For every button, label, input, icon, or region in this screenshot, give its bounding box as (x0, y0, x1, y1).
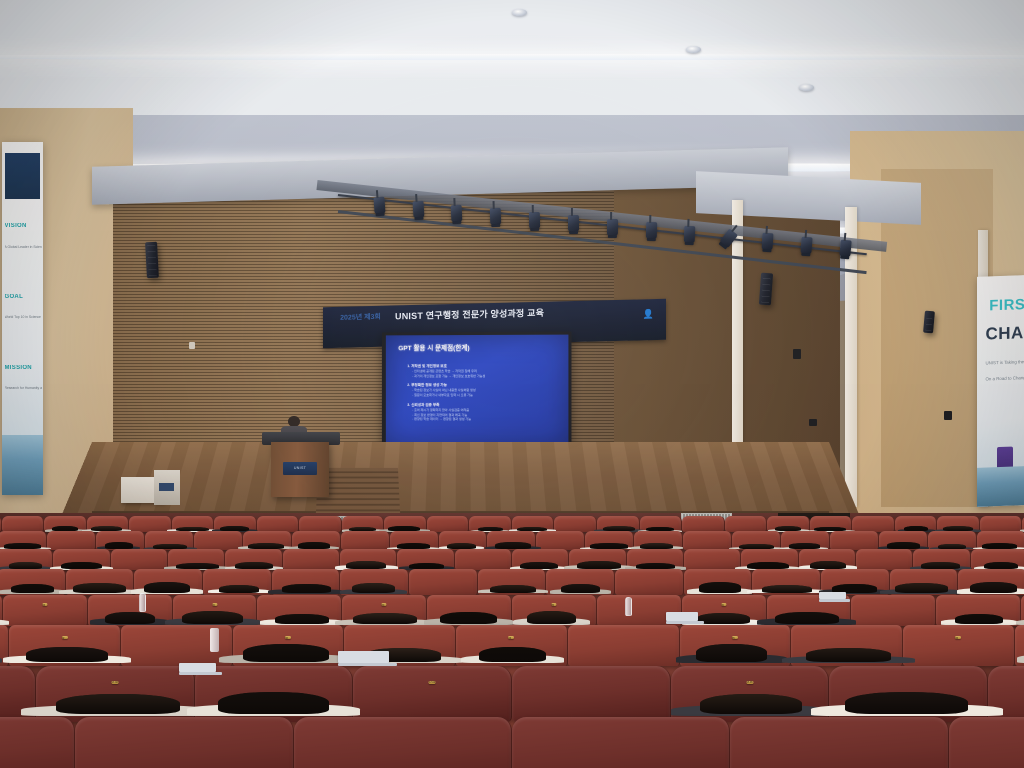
auditorium-seat[interactable] (0, 531, 47, 550)
audience-member-hair (700, 694, 803, 715)
auditorium-seat[interactable] (569, 549, 626, 571)
audience-member-hair (275, 614, 329, 624)
seat-number-plaque: 17-03 (111, 681, 118, 684)
auditorium-seat[interactable] (427, 516, 470, 533)
audience-member (346, 561, 386, 569)
slide-bullet-line: - 질문이 모호하거나 내부자료 입력 시 오류 가능 (412, 393, 560, 398)
auditorium-photo: VISION A Global Leader in Science and Te… (0, 0, 1024, 768)
audience-member (810, 561, 847, 569)
auditorium-seat[interactable] (0, 717, 75, 768)
auditorium-seat[interactable] (145, 531, 194, 550)
auditorium-seat[interactable] (478, 569, 547, 594)
audience-member (282, 584, 331, 593)
podium-plate: UNIST (283, 462, 318, 474)
audience-member (955, 614, 1004, 624)
wall-camera (189, 342, 195, 349)
audience-member-hair (696, 644, 767, 662)
stage-spotlight-icon (839, 240, 851, 258)
seat-number-plaque: 16-05 (732, 636, 738, 639)
auditorium-seat[interactable] (111, 549, 168, 571)
seat-row (0, 516, 1024, 533)
auditorium-seat[interactable] (455, 549, 512, 571)
audience-member-hair (353, 613, 418, 624)
audience-member (61, 562, 102, 570)
auditorium-seat[interactable] (741, 549, 798, 571)
stage-spotlight-icon (373, 197, 385, 215)
auditorium-seat[interactable] (134, 569, 203, 594)
slide-surface: GPT 활용 시 문제점(한계) 1. 저작권 및 개인정보 보호- 인터넷에 … (386, 334, 568, 446)
auditorium-seat[interactable] (299, 516, 342, 533)
audience-seating-area: 15-0215-0315-0415-0515-0616-0216-0316-04… (0, 513, 1024, 768)
water-bottle (625, 597, 632, 616)
auditorium-seat[interactable] (684, 549, 741, 571)
line-array-speaker-icon-left (145, 242, 159, 279)
auditorium-seat[interactable] (439, 531, 488, 550)
audience-member-hair (845, 692, 968, 715)
auditorium-seat[interactable] (1015, 625, 1024, 666)
seat-row (0, 569, 1024, 594)
seat-number-plaque: 17-04 (429, 681, 436, 684)
audience-member (440, 612, 497, 624)
auditorium-seat[interactable] (75, 717, 293, 768)
audience-member-hair (105, 612, 155, 624)
audience-member-hair (282, 584, 331, 593)
stage-spotlight-icon (529, 212, 540, 229)
audience-member (218, 692, 328, 715)
seat-number-plaque: 16-02 (62, 636, 68, 639)
auditorium-seat[interactable] (427, 595, 512, 627)
audience-member-hair (810, 561, 847, 569)
auditorium-seat[interactable] (397, 549, 454, 571)
auditorium-seat[interactable] (272, 569, 341, 594)
right-banner-sub-2: On a Road to Change the Future (985, 374, 1024, 384)
slide-body: 1. 저작권 및 개인정보 보호- 인터넷에 공개된 콘텐츠 학습 → 저작권 … (407, 363, 560, 427)
seat-number-plaque: 16-06 (955, 636, 961, 639)
auditorium-seat[interactable] (203, 569, 272, 594)
slide-bullet-line: - 편향된 학습 데이터 → 편향된 결과 생성 가능 (412, 417, 560, 422)
audience-member (984, 562, 1018, 570)
right-banner-photo (977, 467, 1024, 508)
stage-banner-title: UNIST 연구행정 전문가 양성과정 교육 (395, 306, 544, 323)
audience-member (561, 584, 600, 593)
auditorium-seat[interactable] (487, 531, 536, 550)
cove-light-strip-top (0, 54, 1024, 60)
auditorium-seat[interactable] (340, 549, 397, 571)
audience-member (243, 644, 329, 662)
stage-spotlight-icon (451, 204, 463, 221)
auditorium-seat[interactable] (536, 531, 585, 550)
stage-spotlight-icon (412, 201, 424, 219)
auditorium-seat[interactable] (913, 549, 970, 571)
auditorium-seat[interactable] (243, 531, 292, 550)
audience-member-shoulders (0, 656, 2, 663)
auditorium-seat[interactable] (895, 516, 938, 533)
slide-bullet-group: 3. 신뢰성과 검증 부족- 출처 제시가 정확하지 않아 사실검증 어려움- … (407, 403, 560, 423)
audience-member-hair (955, 614, 1004, 624)
stage-equipment-stand (154, 470, 181, 505)
wall-banner-right: FIRST CHANGE UNIST is Taking the First S… (977, 276, 1024, 508)
auditorium-seat[interactable] (546, 569, 615, 594)
stage-spotlight-icon (490, 208, 502, 225)
auditorium-seat[interactable] (597, 516, 640, 533)
audience-member-hair (352, 583, 395, 593)
audience-member (696, 644, 767, 662)
audience-member-hair (984, 562, 1018, 570)
auditorium-seat[interactable] (0, 569, 66, 594)
audience-member (845, 692, 968, 715)
right-banner-sub-1: UNIST is Taking the First Step (985, 358, 1024, 368)
auditorium-seat[interactable] (96, 531, 145, 550)
stage-spotlight-icon (684, 226, 696, 243)
audience-member (56, 694, 181, 715)
seat-number-plaque: 15-04 (382, 603, 387, 606)
right-banner-title-2: CHANGE (985, 323, 1024, 346)
auditorium-seat[interactable]: 15-02 (3, 595, 88, 627)
auditorium-seat[interactable] (512, 516, 555, 533)
audience-member (747, 562, 789, 570)
wall-fixture-3 (944, 411, 952, 420)
projection-screen: GPT 활용 시 문제점(한계) 1. 저작권 및 개인정보 보호- 인터넷에 … (382, 331, 572, 449)
auditorium-seat[interactable] (0, 549, 53, 571)
auditorium-seat[interactable] (53, 549, 110, 571)
auditorium-seat[interactable] (2, 516, 45, 533)
auditorium-seat[interactable] (283, 549, 340, 571)
auditorium-seat[interactable] (977, 531, 1024, 550)
wall-fixture-1 (793, 349, 801, 359)
auditorium-seat[interactable] (568, 625, 680, 666)
auditorium-seat[interactable] (949, 717, 1024, 768)
audience-member (577, 561, 622, 569)
audience-member (353, 613, 418, 624)
audience-member-hair (747, 562, 789, 570)
auditorium-seat[interactable] (781, 531, 830, 550)
auditorium-seat[interactable] (66, 569, 135, 594)
audience-member-hair (697, 613, 750, 624)
unist-logo-left (5, 153, 39, 199)
auditorium-seat[interactable]: 15-05 (512, 595, 597, 627)
stage-spotlight-icon (607, 219, 618, 236)
auditorium-seat[interactable]: 15-04 (342, 595, 427, 627)
auditorium-seat[interactable] (257, 516, 300, 533)
seat-number-plaque: 15-02 (42, 603, 47, 606)
seat-row: 17-0317-0417-0517-06 (0, 666, 1024, 722)
left-banner-sub-1: A Global Leader in Science and Technolog… (5, 245, 43, 250)
auditorium-seat[interactable] (767, 516, 810, 533)
auditorium-seat[interactable] (512, 549, 569, 571)
audience-member-hair (895, 583, 948, 593)
seat-number-plaque: 16-04 (508, 636, 514, 639)
auditorium-seat[interactable] (390, 531, 439, 550)
auditorium-seat[interactable] (821, 569, 890, 594)
auditorium-seat[interactable] (937, 516, 980, 533)
seat-row (0, 549, 1024, 571)
auditorium-seat[interactable]: 17-04 (353, 666, 512, 722)
audience-member-shoulders (0, 619, 9, 624)
right-banner-title-1: FIRST (989, 296, 1024, 315)
auditorium-seat[interactable] (851, 595, 936, 627)
left-banner-heading-3: MISSION (5, 365, 32, 371)
auditorium-seat[interactable] (980, 516, 1023, 533)
seat-number-plaque: 16-03 (285, 636, 291, 639)
drink-tumbler (210, 628, 219, 652)
auditorium-seat[interactable] (936, 595, 1021, 627)
auditorium-seat[interactable] (799, 549, 856, 571)
auditorium-seat[interactable] (44, 516, 87, 533)
auditorium-seat[interactable] (214, 516, 257, 533)
left-banner-heading-1: VISION (5, 223, 27, 229)
auditorium-seat[interactable] (830, 531, 879, 550)
auditorium-seat[interactable] (88, 595, 173, 627)
stage-steps (316, 468, 400, 513)
audience-member-hair (73, 583, 125, 593)
water-bottle (139, 593, 146, 612)
left-banner-sub-3: Research for Humanity and Better Life (5, 386, 43, 391)
auditorium-seat[interactable] (554, 516, 597, 533)
auditorium-seat[interactable] (730, 717, 948, 768)
audience-member-hair (26, 647, 108, 662)
auditorium-seat[interactable] (512, 717, 730, 768)
slide-bullet-group: 2. 부정확한 정보 생성 가능- 학습된 정보가 사실이 아닌 내용을 사실처… (407, 383, 560, 398)
audience-member (352, 583, 395, 593)
auditorium-seat[interactable] (732, 531, 781, 550)
seat-row: 16-0216-0316-0416-0516-06 (0, 625, 1024, 666)
auditorium-seat[interactable] (852, 516, 895, 533)
stage-spotlight-icon (800, 236, 812, 254)
audience-member-hair (346, 561, 386, 569)
audience-member (11, 584, 54, 593)
audience-member (527, 611, 576, 624)
auditorium-seat[interactable] (168, 549, 225, 571)
auditorium-seat[interactable] (194, 531, 243, 550)
auditorium-seat[interactable] (257, 595, 342, 627)
auditorium-seat[interactable]: 16-04 (456, 625, 568, 666)
seat-number-plaque: 15-06 (721, 603, 726, 606)
audience-member (895, 583, 948, 593)
auditorium-seat[interactable] (890, 569, 959, 594)
laptop (666, 612, 699, 620)
auditorium-seat[interactable] (340, 569, 409, 594)
auditorium-seat[interactable] (684, 569, 753, 594)
auditorium-seat[interactable] (292, 531, 341, 550)
audience-member-hair (561, 584, 600, 593)
audience-member-hair (699, 582, 741, 593)
seat-row: 15-0215-0315-0415-0515-06 (0, 595, 1024, 627)
auditorium-seat[interactable] (409, 569, 478, 594)
left-banner-heading-2: GOAL (5, 294, 24, 300)
audience-member (182, 611, 243, 624)
seat-number-plaque: 15-03 (212, 603, 217, 606)
audience-member (806, 648, 891, 662)
auditorium-seat[interactable] (829, 666, 988, 722)
auditorium-seat[interactable] (585, 531, 634, 550)
auditorium-seat[interactable] (634, 531, 683, 550)
audience-member-hair (970, 582, 1017, 593)
slide-title: GPT 활용 시 문제점(한계) (398, 341, 469, 351)
seat-number-plaque: 15-05 (551, 603, 556, 606)
audience-member (275, 614, 329, 624)
auditorium-seat[interactable]: 17-05 (671, 666, 830, 722)
auditorium-seat[interactable]: 16-03 (233, 625, 345, 666)
audience-member-hair (219, 585, 259, 593)
auditorium-seat[interactable] (87, 516, 130, 533)
audience-member (490, 585, 535, 593)
wall-banner-left: VISION A Global Leader in Science and Te… (2, 142, 43, 495)
laptop (819, 592, 846, 599)
audience-member-hair (490, 585, 535, 593)
auditorium-seat[interactable] (725, 516, 768, 533)
stage-spotlight-icon (762, 233, 774, 251)
audience-member-shoulders (1017, 654, 1024, 663)
audience-member-hair (218, 692, 328, 715)
left-banner-sub-2: World Top 10 in Science and Technology b… (5, 315, 43, 320)
line-array-speaker-icon-far-right (923, 311, 935, 334)
auditorium-seat[interactable]: 16-02 (9, 625, 121, 666)
laptop (338, 651, 389, 664)
stage-spotlight-icon (568, 215, 579, 232)
auditorium-seat[interactable] (512, 666, 671, 722)
audience-member-hair (182, 611, 243, 624)
audience-member (699, 582, 741, 593)
auditorium-seat[interactable] (971, 549, 1024, 571)
audience-member (479, 647, 545, 662)
seat-number-plaque: 17-05 (746, 681, 753, 684)
audience-member-hair (144, 582, 190, 593)
audience-member (762, 585, 813, 593)
wall-fixture-2 (809, 419, 817, 426)
auditorium-seat[interactable] (615, 569, 684, 594)
audience-member-hair (806, 648, 891, 662)
audience-member-hair (520, 562, 557, 570)
audience-member (697, 613, 750, 624)
auditorium-seat[interactable] (879, 531, 928, 550)
audience-member-hair (577, 561, 622, 569)
audience-member-hair (243, 644, 329, 662)
auditorium-seat[interactable] (47, 531, 96, 550)
left-banner-photo (2, 435, 43, 495)
audience-member (520, 562, 557, 570)
audience-member (970, 582, 1017, 593)
stage-banner-year: 2025년 제3회 (340, 312, 381, 323)
audience-member (144, 582, 190, 593)
audience-member-hair (762, 585, 813, 593)
auditorium-seat[interactable] (294, 717, 512, 768)
auditorium-seat[interactable] (682, 516, 725, 533)
audience-member-hair (775, 612, 839, 624)
audience-member (26, 647, 108, 662)
seat-row (0, 717, 1024, 768)
audience-member (105, 612, 155, 624)
laptop (179, 663, 216, 672)
audience-member-hair (440, 612, 497, 624)
auditorium-seat[interactable] (683, 531, 732, 550)
stage-spotlight-icon (645, 222, 656, 239)
audience-member-hair (56, 694, 181, 715)
auditorium-seat[interactable] (791, 625, 903, 666)
line-array-speaker-icon-right (759, 272, 773, 305)
auditorium-seat[interactable]: 16-05 (680, 625, 792, 666)
auditorium-seat[interactable] (129, 516, 172, 533)
auditorium-seat[interactable] (640, 516, 683, 533)
auditorium-seat[interactable] (810, 516, 853, 533)
slide-bullet-group: 1. 저작권 및 개인정보 보호- 인터넷에 공개된 콘텐츠 학습 → 저작권 … (407, 363, 560, 378)
auditorium-seat[interactable]: 16-06 (903, 625, 1015, 666)
auditorium-seat[interactable]: 17-03 (36, 666, 195, 722)
audience-member (219, 585, 259, 593)
auditorium-seat[interactable] (856, 549, 913, 571)
audience-member-hair (479, 647, 545, 662)
audience-member (700, 694, 803, 715)
auditorium-seat[interactable]: 15-03 (173, 595, 258, 627)
auditorium-seat[interactable] (928, 531, 977, 550)
audience-member-hair (61, 562, 102, 570)
auditorium-seat[interactable] (341, 531, 390, 550)
audience-member-hair (11, 584, 54, 593)
auditorium-seat[interactable] (469, 516, 512, 533)
auditorium-seat[interactable] (384, 516, 427, 533)
auditorium-seat[interactable] (225, 549, 282, 571)
audience-member (775, 612, 839, 624)
auditorium-seat[interactable] (627, 549, 684, 571)
slide-bullet-line: - 과거의 개인정보 포함 가능 → 개인정보 보호위반 가능성 (412, 373, 560, 378)
auditorium-seat[interactable] (958, 569, 1024, 594)
auditorium-seat[interactable] (752, 569, 821, 594)
audience-member-hair (527, 611, 576, 624)
auditorium-seat[interactable] (172, 516, 215, 533)
audience-member (73, 583, 125, 593)
auditorium-seat[interactable] (342, 516, 385, 533)
person-figure-icon: 👤 (642, 310, 650, 321)
seat-row (0, 531, 1024, 550)
